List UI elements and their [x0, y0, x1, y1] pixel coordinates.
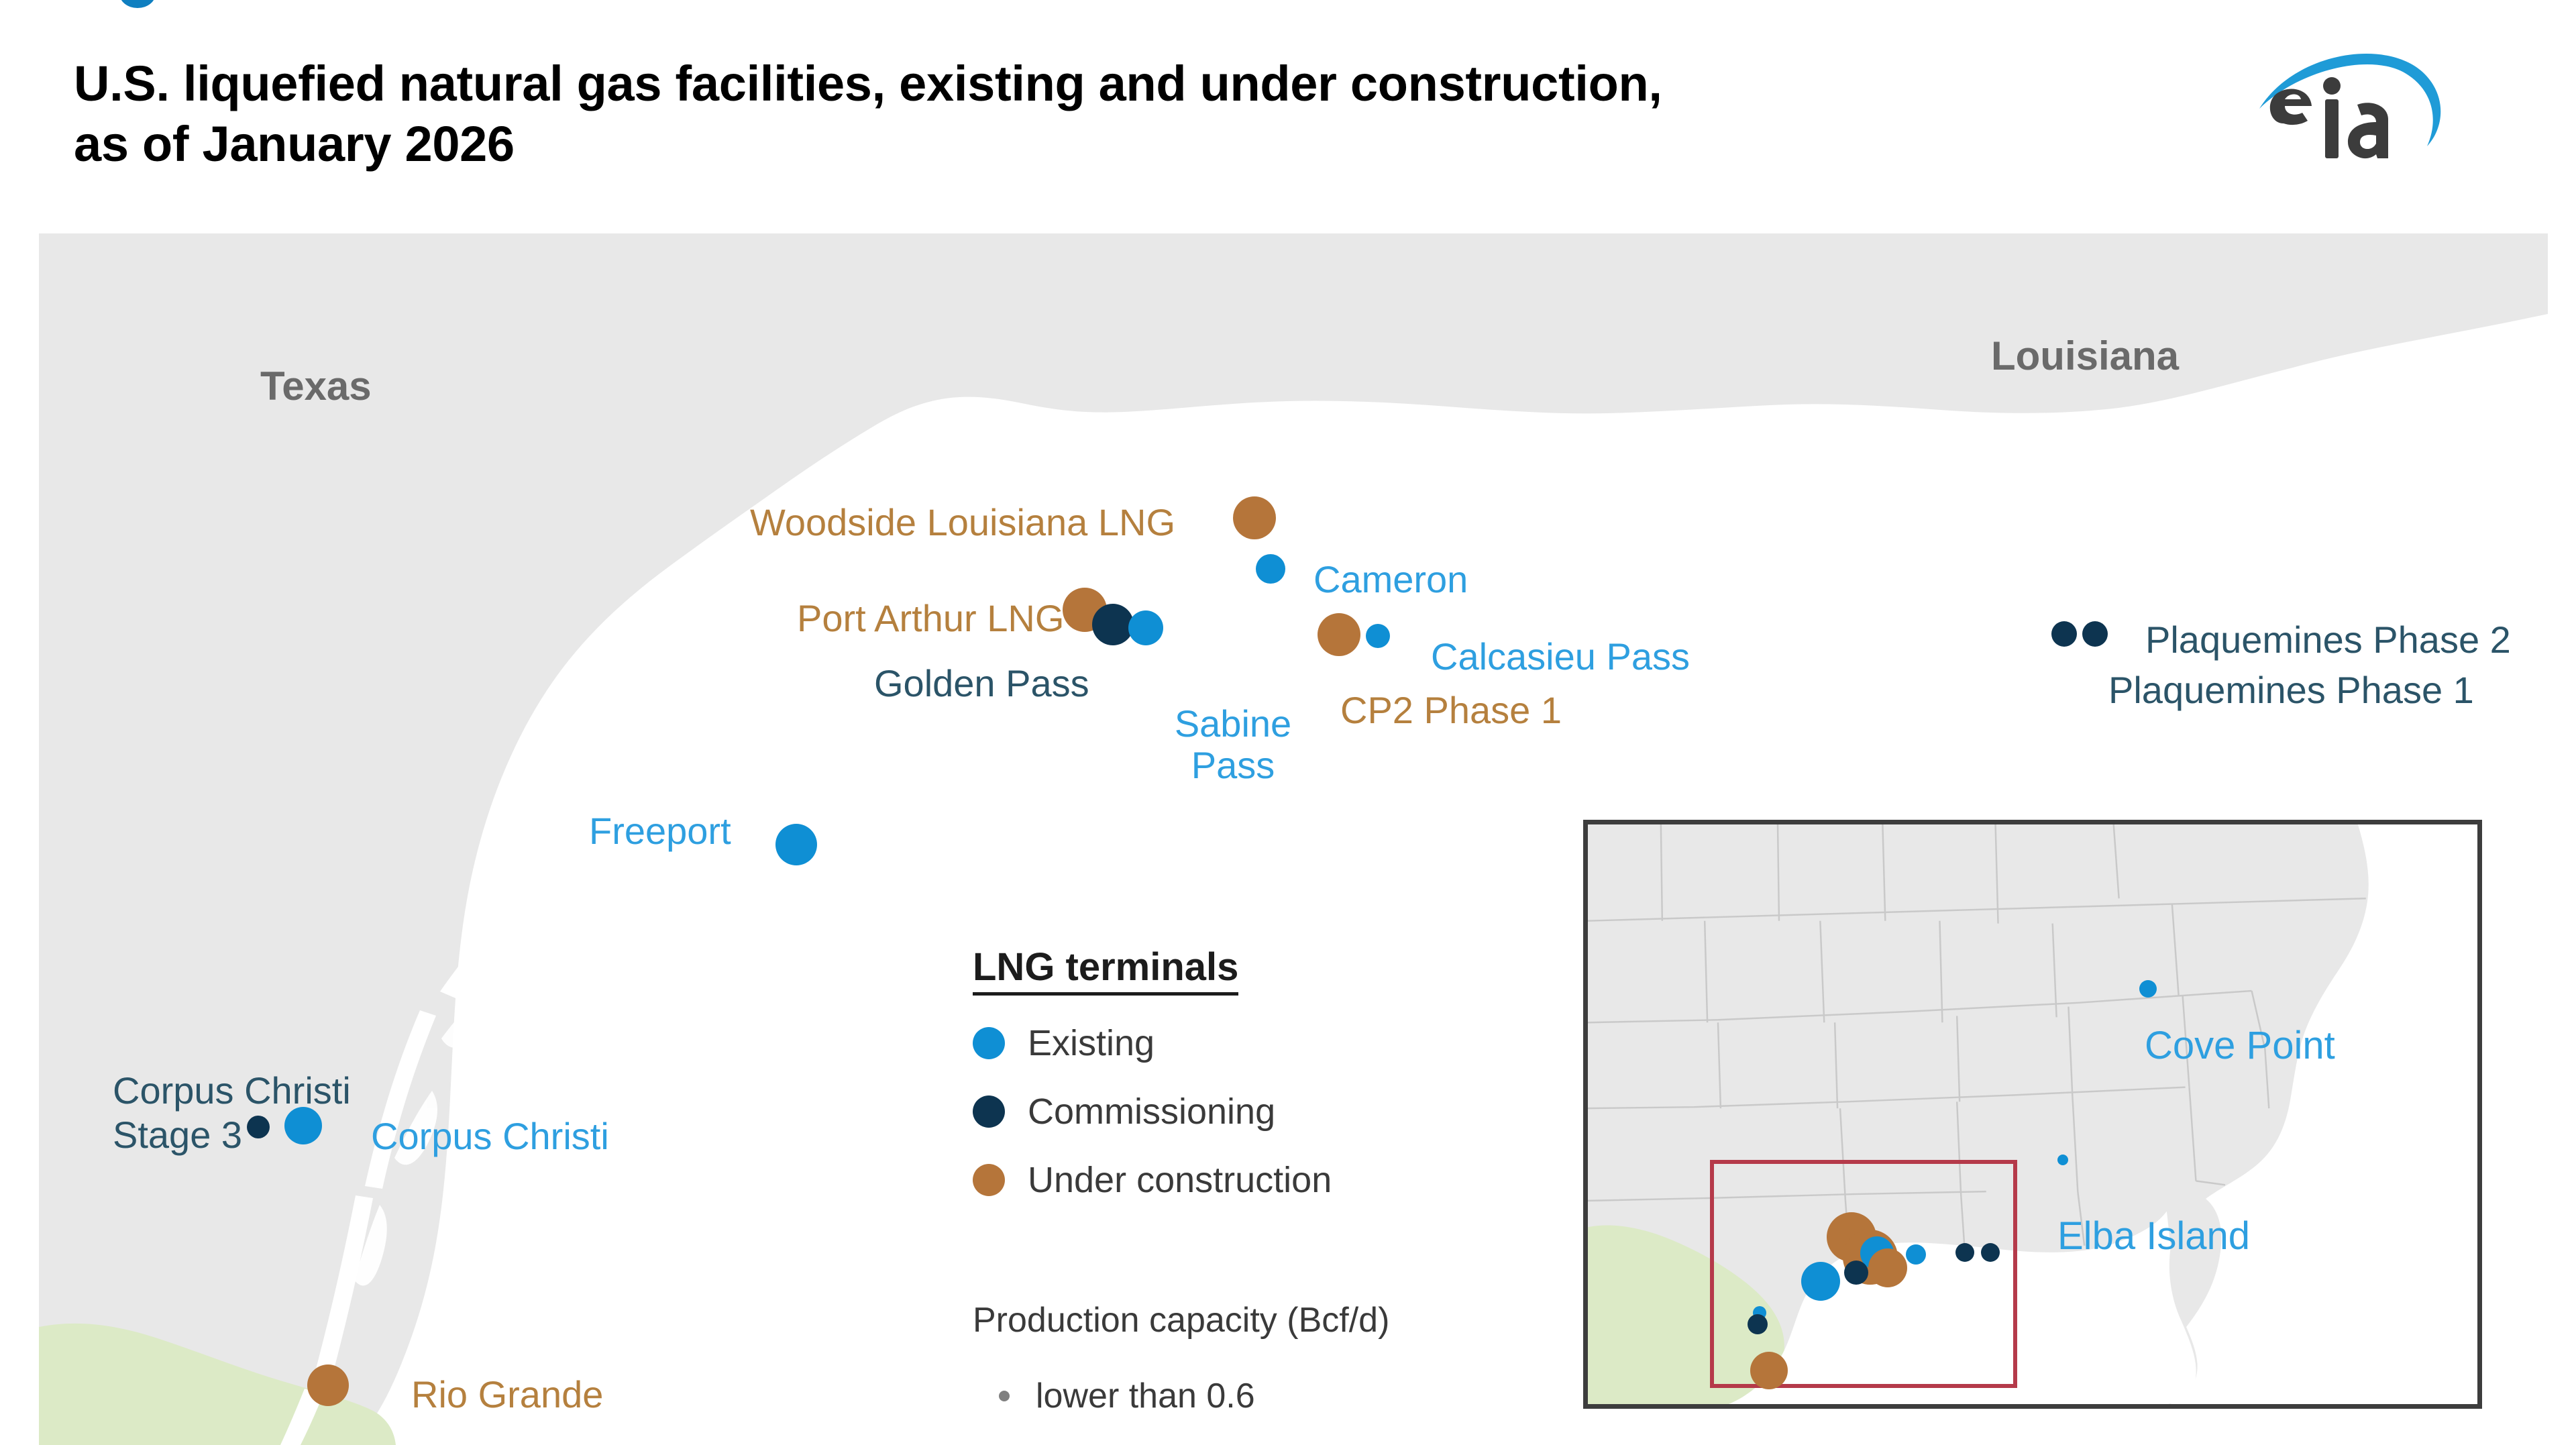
inset-dot-cp2[interactable]	[1868, 1248, 1907, 1287]
eia-logo	[2254, 34, 2455, 161]
facility-dot-golden-pass[interactable]	[1092, 604, 1134, 645]
inset-dot-elba-island[interactable]	[2057, 1155, 2068, 1165]
legend-item-existing[interactable]: Existing	[973, 1022, 1509, 1064]
legend-label-commissioning: Commissioning	[1028, 1091, 1275, 1132]
facility-label-plaquemines-phase-2[interactable]: Plaquemines Phase 2	[2145, 619, 2511, 661]
facility-dot-corpus-christi-stage-3[interactable]	[247, 1116, 270, 1138]
inset-dot-cc-stage-3[interactable]	[1748, 1314, 1768, 1334]
facility-label-calcasieu-pass[interactable]: Calcasieu Pass	[1431, 636, 1690, 678]
capacity-swatch-1	[999, 1391, 1010, 1401]
inset-dot-rio-grande[interactable]	[1750, 1352, 1788, 1389]
facility-label-cp2-phase-1[interactable]: CP2 Phase 1	[1340, 690, 1562, 731]
map-pin-icon	[119, 0, 156, 8]
capacity-legend-title: Production capacity (Bcf/d)	[973, 1300, 1509, 1340]
legend-title: LNG terminals	[973, 945, 1238, 996]
legend-item-under-construction[interactable]: Under construction	[973, 1159, 1509, 1201]
inset-label-cove-point[interactable]: Cove Point	[2145, 1023, 2335, 1068]
facility-label-cameron[interactable]: Cameron	[1313, 559, 1468, 600]
facility-dot-freeport[interactable]	[775, 824, 817, 865]
facility-dot-rio-grande[interactable]	[307, 1364, 349, 1406]
inset-dot-freeport[interactable]	[1801, 1262, 1840, 1301]
state-label-texas: Texas	[260, 364, 372, 409]
page-title-line-1: U.S. liquefied natural gas facilities, e…	[74, 54, 2086, 114]
legend-swatch-under-construction	[973, 1164, 1005, 1196]
inset-dot-golden-pass[interactable]	[1844, 1261, 1868, 1285]
legend-swatch-existing	[973, 1027, 1005, 1059]
main-map[interactable]: Texas Louisiana Woodside Louisiana LNG P…	[39, 233, 2548, 1445]
capacity-item-lower-than-06[interactable]: lower than 0.6	[973, 1367, 1509, 1425]
capacity-label-1: lower than 0.6	[1036, 1376, 1255, 1416]
inset-dot-plaquemines-2[interactable]	[1981, 1243, 2000, 1262]
legend-label-under-construction: Under construction	[1028, 1159, 1332, 1201]
inset-dot-cove-point[interactable]	[2139, 980, 2157, 998]
facility-label-freeport[interactable]: Freeport	[589, 810, 731, 852]
page-title-line-2: as of January 2026	[74, 114, 2086, 174]
facility-label-corpus-christi-stage-3[interactable]: Corpus Christi Stage 3	[113, 1069, 381, 1157]
production-capacity-legend: Production capacity (Bcf/d) lower than 0…	[973, 1300, 1509, 1445]
facility-dot-woodside-louisiana-lng[interactable]	[1233, 496, 1276, 539]
facility-label-woodside-louisiana-lng[interactable]: Woodside Louisiana LNG	[750, 502, 1175, 543]
facility-label-plaquemines-phase-1[interactable]: Plaquemines Phase 1	[2108, 670, 2474, 711]
page-title: U.S. liquefied natural gas facilities, e…	[74, 54, 2086, 175]
inset-label-elba-island[interactable]: Elba Island	[2057, 1214, 2250, 1259]
facility-label-sabine-pass[interactable]: Sabine Pass	[1166, 703, 1300, 786]
facility-dot-corpus-christi[interactable]	[284, 1107, 322, 1144]
facility-label-port-arthur-lng[interactable]: Port Arthur LNG	[797, 598, 1064, 639]
facility-dot-plaquemines-phase-1[interactable]	[2051, 621, 2077, 647]
inset-map[interactable]: Cove Point Elba Island	[1583, 820, 2482, 1409]
inset-dot-calcasieu[interactable]	[1906, 1244, 1926, 1265]
state-label-louisiana: Louisiana	[1991, 334, 2179, 378]
facility-label-rio-grande[interactable]: Rio Grande	[411, 1374, 603, 1415]
legend-swatch-commissioning	[973, 1095, 1005, 1128]
facility-dot-calcasieu-pass[interactable]	[1366, 624, 1390, 648]
legend-item-commissioning[interactable]: Commissioning	[973, 1091, 1509, 1132]
facility-dot-plaquemines-phase-2[interactable]	[2082, 621, 2108, 647]
facility-label-golden-pass[interactable]: Golden Pass	[874, 663, 1089, 704]
lng-terminals-legend: LNG terminals Existing Commissioning Und…	[973, 945, 1509, 1201]
legend-label-existing: Existing	[1028, 1022, 1155, 1064]
facility-dot-sabine-pass[interactable]	[1128, 610, 1163, 645]
facility-dot-cameron[interactable]	[1256, 554, 1285, 584]
inset-dot-plaquemines-1[interactable]	[1955, 1243, 1974, 1262]
facility-dot-cp2-phase-1[interactable]	[1318, 613, 1360, 656]
capacity-swatch-wrap-1	[973, 1391, 1036, 1401]
facility-label-corpus-christi[interactable]: Corpus Christi	[371, 1116, 609, 1157]
page-root: U.S. liquefied natural gas facilities, e…	[0, 0, 2576, 1445]
